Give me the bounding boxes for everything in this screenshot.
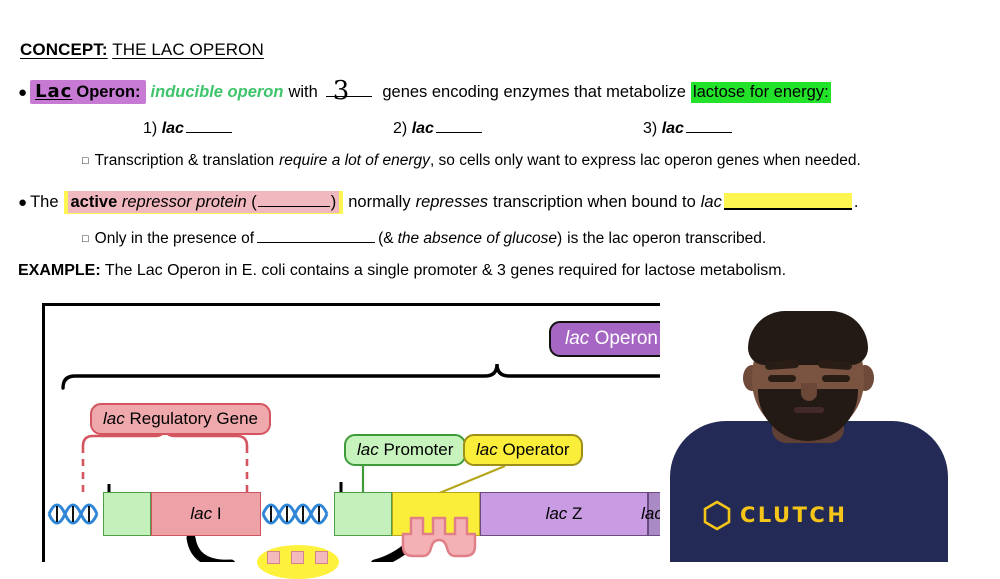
seg-lacz-italic: lac xyxy=(546,504,568,523)
gene-item-3-number: 3) xyxy=(643,120,657,137)
absence-of-glucose-text: the absence of glucose xyxy=(398,230,557,248)
notes-area: CONCEPT: THE LAC OPERON ● LacOperon: ind… xyxy=(0,0,1000,300)
label-oper-italic: lac xyxy=(476,440,498,460)
instructor-eye-left xyxy=(768,375,796,382)
sub-bullet-energy: □ Transcription & translation require a … xyxy=(82,152,861,170)
example-label: EXAMPLE: xyxy=(18,262,101,279)
label-lac-operon-rest: Operon xyxy=(595,328,658,350)
bullet2-lead: The xyxy=(30,193,58,212)
gene-item-1: 1) lac xyxy=(143,118,234,138)
sub2-part3: is the lac operon transcribed. xyxy=(567,230,766,248)
instructor-mouth xyxy=(794,407,824,413)
seg-laci-italic: lac xyxy=(190,504,212,523)
lactose-energy-highlight: lactose for energy: xyxy=(691,82,831,103)
concept-label: CONCEPT: xyxy=(20,40,108,59)
label-lac-regulatory-gene[interactable]: lac Regulatory Gene xyxy=(90,403,271,435)
segment-regulatory-promoter[interactable] xyxy=(103,492,151,536)
square-bullet-icon-3: □ xyxy=(82,233,89,245)
active-word: active xyxy=(71,193,118,211)
lac-italic-word: lac xyxy=(701,193,722,212)
gene-item-1-number: 1) xyxy=(143,120,157,137)
repressor-protein-shape xyxy=(397,512,481,558)
sub2-part1: Only in the presence of xyxy=(95,230,254,248)
sub2-paren-open: (& xyxy=(378,230,394,248)
gene-item-3-prefix: lac xyxy=(662,120,684,137)
example-line: EXAMPLE: The Lac Operon in E. coli conta… xyxy=(18,262,786,280)
paren-open: ( xyxy=(251,193,257,211)
gene-item-3-blank[interactable] xyxy=(686,118,732,133)
label-oper-rest: Operator xyxy=(502,440,569,460)
label-reg-italic: lac xyxy=(103,409,125,429)
represses-word: represses xyxy=(416,193,488,212)
label-lac-promoter[interactable]: lac Promoter xyxy=(344,434,466,466)
operon-label: Operon: xyxy=(76,83,140,101)
bullet-repressor: ● The active repressor protein () normal… xyxy=(18,190,858,214)
sub1-italic: require a lot of energy xyxy=(279,152,430,170)
segment-lac-i[interactable]: lac I xyxy=(151,492,261,536)
gene-item-2: 2) lac xyxy=(393,118,484,138)
sub1-part2: , so cells only want to express lac oper… xyxy=(430,152,861,170)
sub2-paren-close: ) xyxy=(557,230,562,248)
hexagon-icon xyxy=(702,499,732,531)
clutch-logo: CLUTCH xyxy=(702,499,847,531)
lactose-inducer-blob xyxy=(257,545,339,579)
square-bullet-icon: □ xyxy=(82,155,89,167)
clutch-logo-text: CLUTCH xyxy=(740,503,847,527)
with-word: with xyxy=(288,83,317,102)
label-reg-rest: Regulatory Gene xyxy=(129,409,258,429)
seg-laci-rest: I xyxy=(217,504,222,523)
instructor-hair xyxy=(748,311,868,365)
lac-operator-blank[interactable] xyxy=(724,193,852,210)
label-lac-operator[interactable]: lac Operator xyxy=(463,434,583,466)
gene-item-2-prefix: lac xyxy=(412,120,434,137)
gene-item-1-blank[interactable] xyxy=(186,118,232,133)
repressor-protein-words: repressor protein xyxy=(122,193,247,211)
instructor-video-overlay[interactable]: CLUTCH xyxy=(660,303,958,562)
bullet2-mid: normally xyxy=(348,193,410,212)
label-lac-operon-italic: lac xyxy=(565,328,589,350)
segment-lac-z[interactable]: lac Z xyxy=(480,492,648,536)
label-prom-italic: lac xyxy=(357,440,379,460)
bullet-lac-operon: ● LacOperon: inducible operon with 3 gen… xyxy=(18,80,831,104)
bullet-dot-icon: ● xyxy=(18,85,27,100)
paren-close: ) xyxy=(331,193,337,211)
instructor-eye-right xyxy=(822,375,850,382)
label-prom-rest: Promoter xyxy=(383,440,453,460)
bullet-dot-icon-2: ● xyxy=(18,195,27,210)
sub-bullet-lactose-presence: □ Only in the presence of (& the absence… xyxy=(82,228,766,248)
gene-item-2-number: 2) xyxy=(393,120,407,137)
concept-heading: CONCEPT: THE LAC OPERON xyxy=(20,40,264,60)
presence-blank[interactable] xyxy=(257,228,375,243)
example-text: The Lac Operon in E. coli contains a sin… xyxy=(105,262,786,279)
label-lac-operon[interactable]: lac Operon xyxy=(549,321,674,357)
bullet2-period: . xyxy=(854,193,859,212)
concept-title: THE LAC OPERON xyxy=(112,40,264,59)
repressor-pink-band: active repressor protein () xyxy=(68,191,340,213)
gene-item-3: 3) lac xyxy=(643,118,734,138)
gene-item-1-prefix: lac xyxy=(162,120,184,137)
segment-promoter[interactable] xyxy=(334,492,392,536)
blob-subunit-3 xyxy=(315,551,328,564)
inducible-operon-text: inducible operon xyxy=(151,83,284,102)
blob-subunit-2 xyxy=(291,551,304,564)
repressor-blank[interactable] xyxy=(258,193,330,207)
blob-subunit-1 xyxy=(267,551,280,564)
gene-item-2-blank[interactable] xyxy=(436,118,482,133)
sub1-part1: Transcription & translation xyxy=(95,152,274,170)
lac-term-highlight: LacOperon: xyxy=(30,80,145,104)
encoding-text: genes encoding enzymes that metabolize xyxy=(382,83,686,102)
repressor-yellow-highlight: active repressor protein () xyxy=(64,191,344,214)
seg-lacz-rest: Z xyxy=(572,504,582,523)
bullet2-mid2: transcription when bound to xyxy=(493,193,696,212)
handwritten-lac: Lac xyxy=(35,81,76,102)
instructor-nose xyxy=(801,383,817,401)
